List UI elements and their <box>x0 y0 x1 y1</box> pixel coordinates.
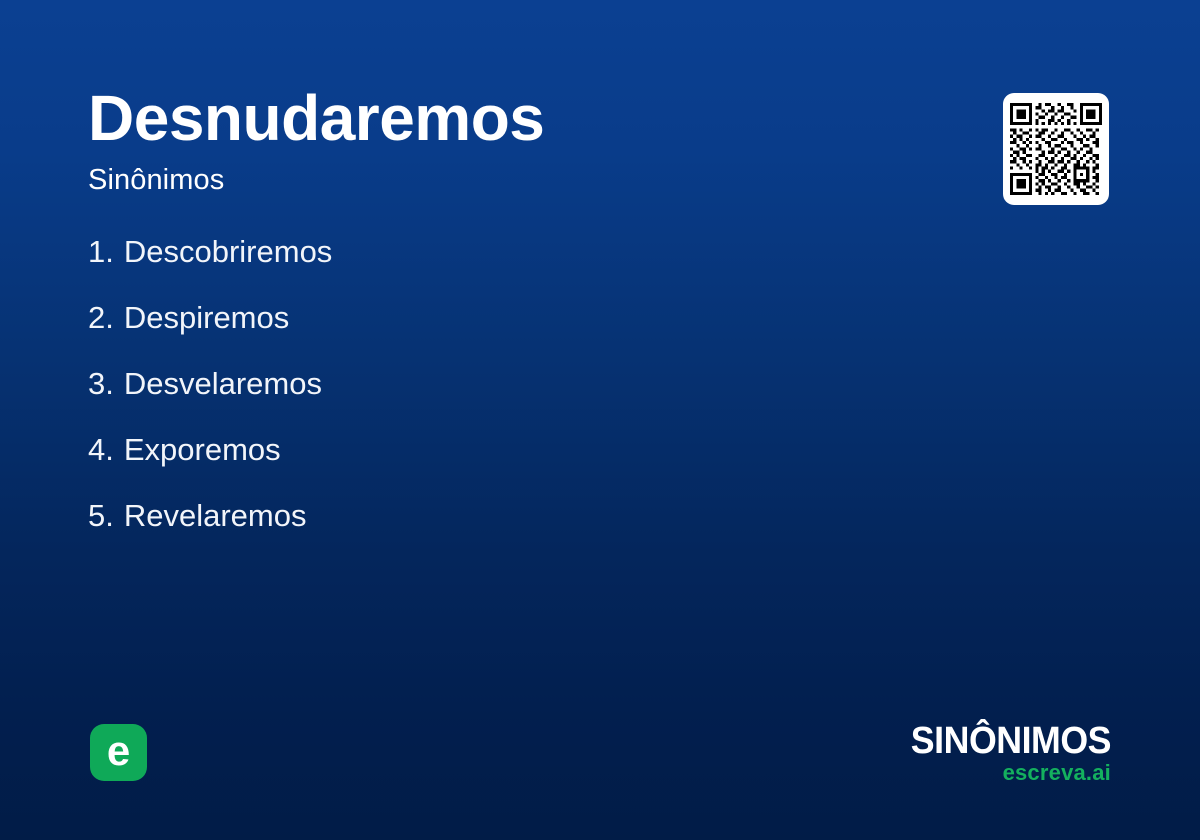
brand-name: SINÔNIMOS <box>893 722 1111 760</box>
escreva-badge-icon[interactable]: e <box>90 724 147 781</box>
synonyms-card: Desnudaremos Sinônimos 1. Descobriremos … <box>0 0 1200 840</box>
list-item: 3. Desvelaremos <box>88 368 888 434</box>
list-item-index: 4. <box>88 434 114 465</box>
badge-letter: e <box>107 730 130 772</box>
qr-code-panel[interactable] <box>1003 93 1109 205</box>
page-title: Desnudaremos <box>88 86 948 150</box>
brand-domain: escreva.ai <box>879 762 1111 784</box>
list-item-label: Despiremos <box>124 302 289 333</box>
list-item: 1. Descobriremos <box>88 236 888 302</box>
list-item-label: Revelaremos <box>124 500 307 531</box>
page-subtitle: Sinônimos <box>88 166 948 195</box>
brand-lockup[interactable]: SINÔNIMOS escreva.ai <box>879 722 1111 784</box>
list-item: 2. Despiremos <box>88 302 888 368</box>
list-item-index: 2. <box>88 302 114 333</box>
list-item: 5. Revelaremos <box>88 500 888 566</box>
qr-code-icon <box>1010 101 1102 197</box>
list-item-label: Descobriremos <box>124 236 332 267</box>
list-item-label: Exporemos <box>124 434 281 465</box>
list-item-label: Desvelaremos <box>124 368 322 399</box>
header: Desnudaremos Sinônimos <box>88 86 948 195</box>
list-item: 4. Exporemos <box>88 434 888 500</box>
synonyms-list: 1. Descobriremos 2. Despiremos 3. Desvel… <box>88 236 888 566</box>
list-item-index: 5. <box>88 500 114 531</box>
list-item-index: 3. <box>88 368 114 399</box>
list-item-index: 1. <box>88 236 114 267</box>
